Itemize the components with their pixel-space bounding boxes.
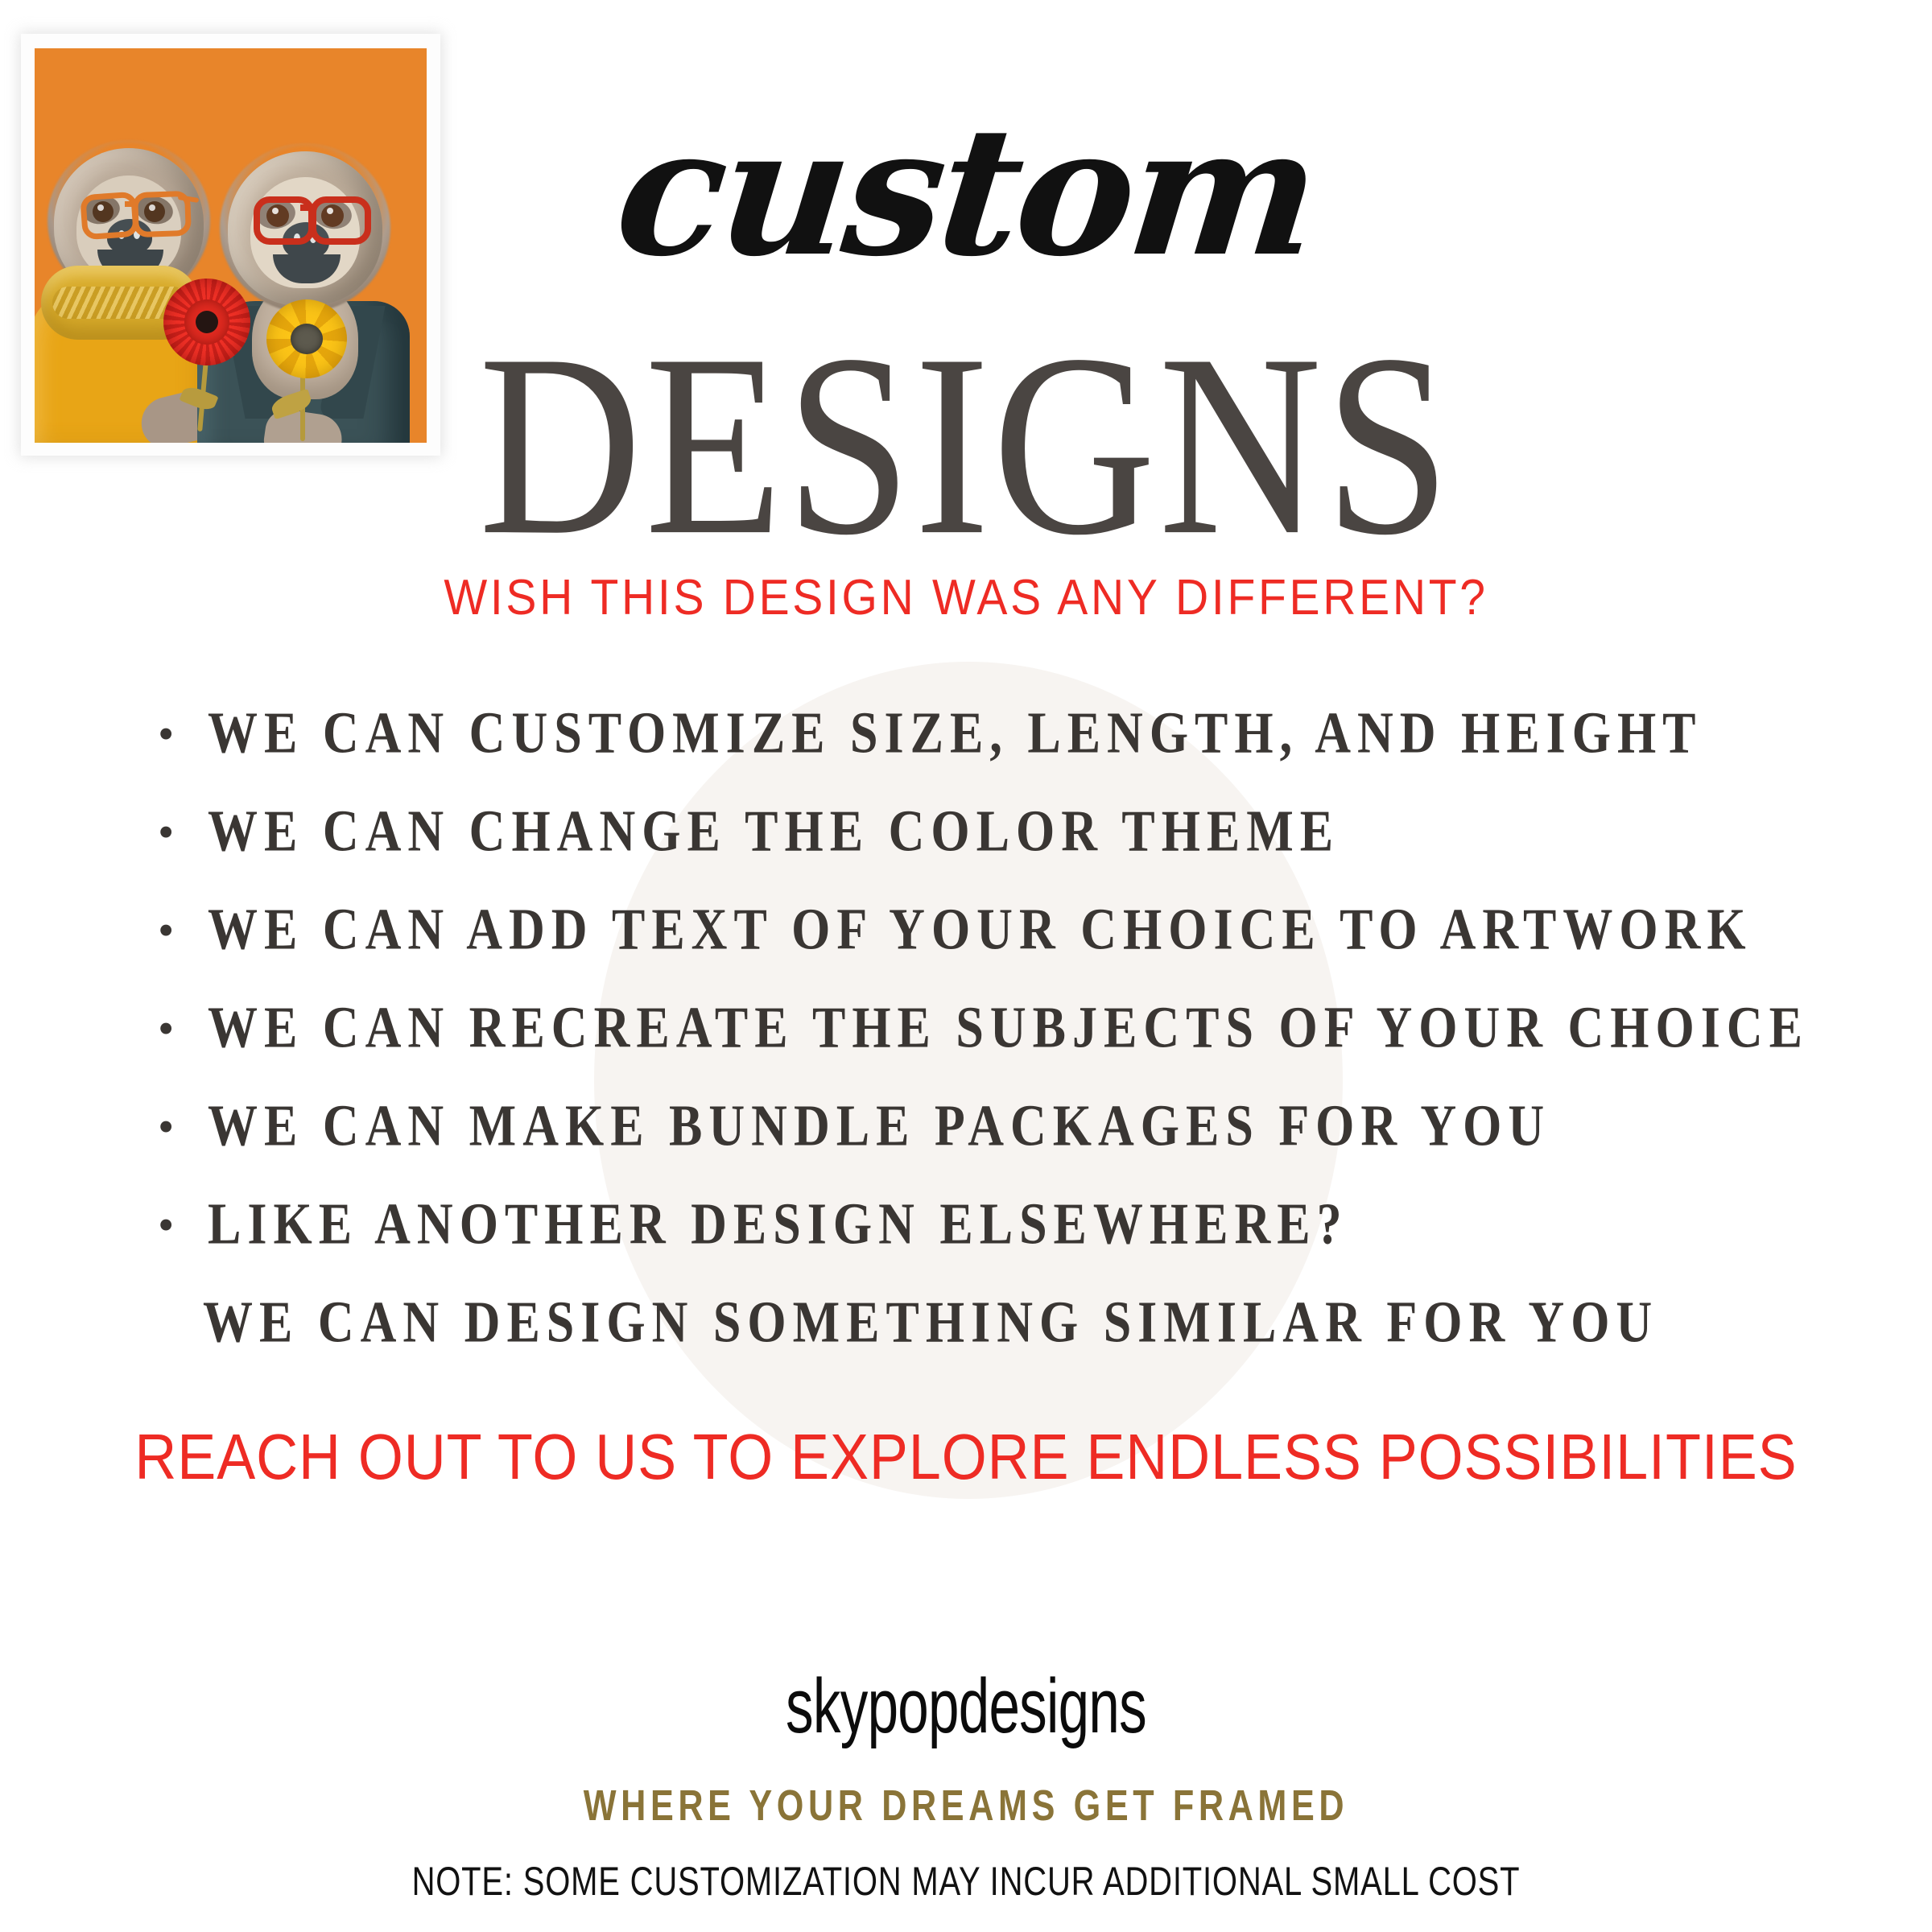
subtitle-question: WISH THIS DESIGN WAS ANY DIFFERENT? (77, 573, 1855, 623)
sloth-right-eyeglass-left (254, 196, 315, 245)
list-item-continuation: WE CAN DESIGN SOMETHING SIMILAR FOR YOU (0, 1298, 1932, 1396)
footer-note: NOTE: SOME CUSTOMIZATION MAY INCUR ADDIT… (193, 1861, 1739, 1901)
yellow-anemone-flower-icon (266, 299, 347, 378)
list-item-label: LIKE ANOTHER DESIGN ELSEWHERE? (208, 1195, 1348, 1253)
yellow-flower-center (291, 324, 323, 354)
list-item-continuation-label: WE CAN DESIGN SOMETHING SIMILAR FOR YOU (203, 1293, 1658, 1352)
cta-text: REACH OUT TO US TO EXPLORE ENDLESS POSSI… (97, 1425, 1835, 1489)
list-item: • WE CAN ADD TEXT OF YOUR CHOICE TO ARTW… (0, 905, 1932, 1003)
list-item-label: WE CAN ADD TEXT OF YOUR CHOICE TO ARTWOR… (208, 900, 1752, 959)
bullet-icon: • (158, 809, 208, 856)
bullet-icon: • (158, 1202, 208, 1249)
artwork-frame (21, 34, 440, 456)
bullet-icon: • (158, 907, 208, 954)
brand-tagline: WHERE YOUR DREAMS GET FRAMED (193, 1784, 1739, 1827)
benefits-list: • WE CAN CUSTOMIZE SIZE, LENGTH, AND HEI… (0, 708, 1932, 1396)
list-item: • WE CAN CUSTOMIZE SIZE, LENGTH, AND HEI… (0, 708, 1932, 807)
artwork-thumbnail[interactable] (19, 32, 442, 457)
list-item-label: WE CAN CHANGE THE COLOR THEME (208, 802, 1340, 861)
list-item: • WE CAN MAKE BUNDLE PACKAGES FOR YOU (0, 1101, 1932, 1199)
list-item-label: WE CAN RECREATE THE SUBJECTS OF YOUR CHO… (208, 998, 1809, 1057)
sloth-left-eyeglass-bridge (125, 201, 136, 207)
list-item-label: WE CAN CUSTOMIZE SIZE, LENGTH, AND HEIGH… (208, 704, 1703, 762)
artwork-canvas (35, 48, 427, 443)
sloth-left-eyeglass-left (80, 192, 139, 241)
list-item: • WE CAN CHANGE THE COLOR THEME (0, 807, 1932, 905)
bullet-icon: • (158, 1005, 208, 1052)
brand-logo: skypopdesigns (270, 1668, 1662, 1745)
list-item-label: WE CAN MAKE BUNDLE PACKAGES FOR YOU (208, 1096, 1550, 1155)
red-gerbera-flower-icon (163, 279, 250, 365)
sloth-right-eyeglass-right (310, 196, 371, 245)
list-item: • WE CAN RECREATE THE SUBJECTS OF YOUR C… (0, 1003, 1932, 1101)
bullet-icon: • (158, 1104, 208, 1150)
sloth-right-eyeglass-bridge (300, 204, 312, 211)
list-item: • LIKE ANOTHER DESIGN ELSEWHERE? (0, 1199, 1932, 1298)
red-flower-center (196, 311, 218, 333)
bullet-icon: • (158, 711, 208, 758)
